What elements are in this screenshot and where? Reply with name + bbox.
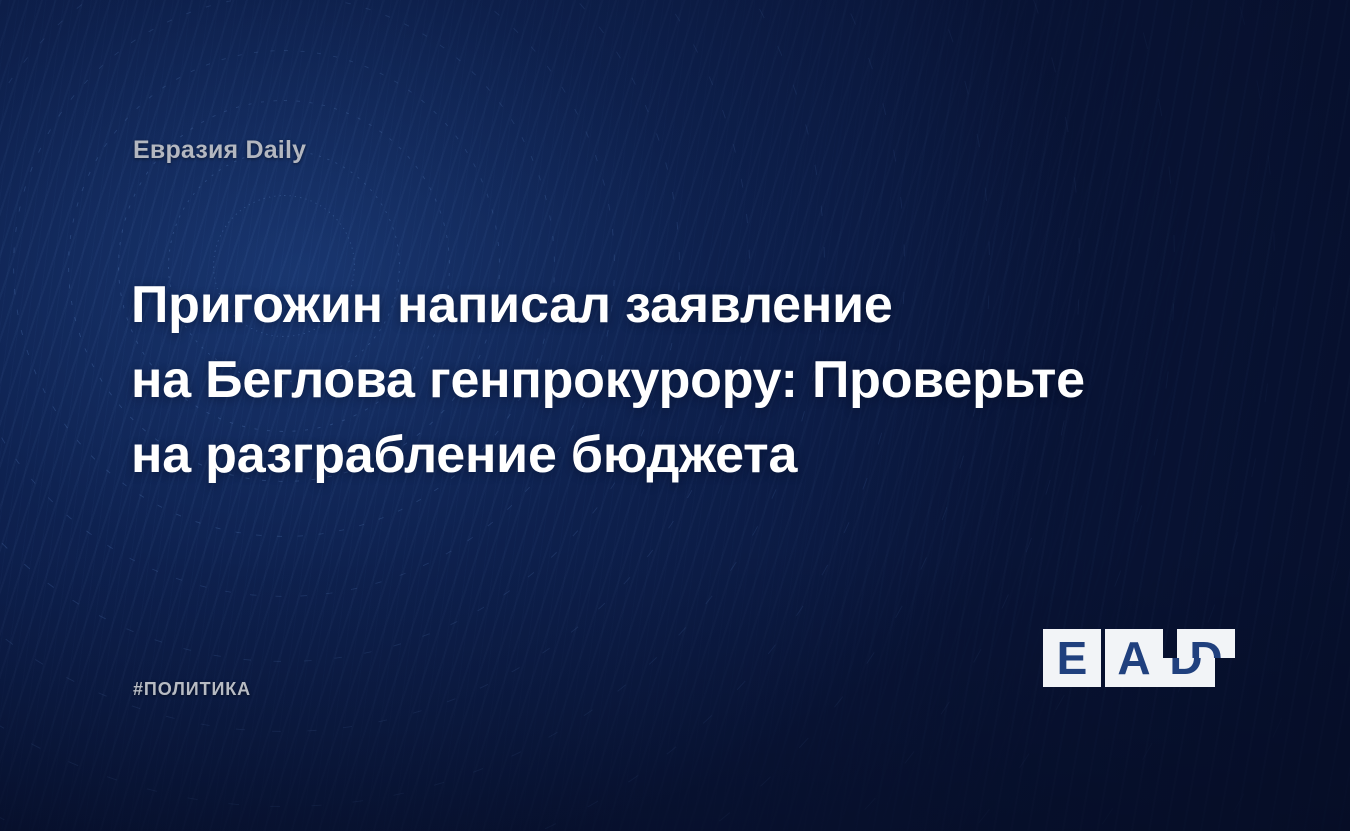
eadaily-logo: E A D D [1043,629,1225,687]
logo-letter-d-lower: D [1169,658,1202,687]
logo-letter-d-upper: D [1189,629,1222,658]
logo-letter-a: A [1117,635,1150,681]
card-content: Евразия Daily Пригожин написал заявление… [0,0,1350,831]
logo-tile-d: D D [1167,629,1225,687]
logo-tile-a: A [1105,629,1163,687]
news-share-card: Евразия Daily Пригожин написал заявление… [0,0,1350,831]
logo-letter-d-bottom-half: D [1157,658,1215,687]
category-tag-politics[interactable]: #ПОЛИТИКА [133,679,251,700]
brand-title: Евразия Daily [133,136,306,165]
logo-letter-d-top-half: D [1177,629,1235,658]
headline-line-3: на разграбление бюджета [131,418,1141,493]
logo-tile-e: E [1043,629,1101,687]
page-title: Пригожин написал заявление на Беглова ге… [131,268,1141,493]
logo-letter-e: E [1057,635,1088,681]
headline-line-2: на Беглова генпрокурору: Проверьте [131,343,1141,418]
headline-line-1: Пригожин написал заявление [131,268,1141,343]
